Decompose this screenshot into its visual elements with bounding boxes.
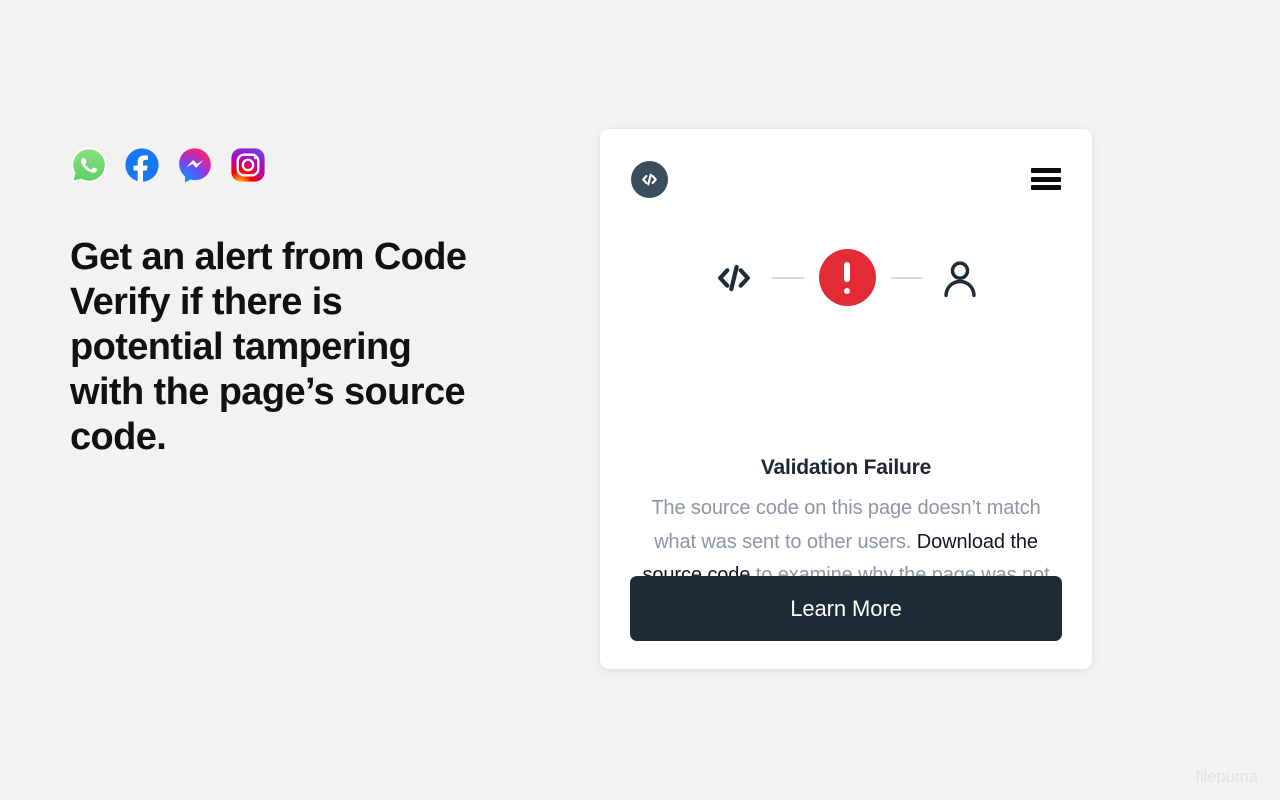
hamburger-bar	[1031, 168, 1061, 173]
hamburger-bar	[1031, 177, 1061, 182]
code-brackets-icon	[711, 255, 757, 301]
card-header	[600, 129, 1092, 229]
exclamation-glyph	[844, 262, 850, 294]
flow-connector	[772, 277, 804, 279]
card-title: Validation Failure	[636, 455, 1056, 481]
status-flow-row	[600, 249, 1092, 306]
flow-connector	[891, 277, 923, 279]
person-glyph	[938, 256, 982, 300]
code-brackets-glyph	[639, 169, 660, 190]
hamburger-bar	[1031, 185, 1061, 190]
code-brackets-glyph	[711, 255, 757, 301]
page-root: Get an alert from Code Verify if there i…	[0, 0, 1280, 800]
social-icons-row	[70, 145, 510, 185]
code-verify-card: Validation Failure The source code on th…	[600, 129, 1092, 669]
watermark: filepuma	[1195, 767, 1258, 787]
person-icon	[938, 256, 982, 300]
alert-exclamation-icon	[819, 249, 876, 306]
left-panel: Get an alert from Code Verify if there i…	[70, 145, 510, 460]
hamburger-menu-icon[interactable]	[1031, 167, 1061, 191]
code-brackets-icon[interactable]	[631, 161, 668, 198]
facebook-icon[interactable]	[123, 146, 161, 184]
instagram-icon[interactable]	[229, 146, 267, 184]
whatsapp-icon[interactable]	[70, 146, 108, 184]
messenger-icon[interactable]	[176, 146, 214, 184]
learn-more-button[interactable]: Learn More	[630, 576, 1062, 641]
page-headline: Get an alert from Code Verify if there i…	[70, 235, 470, 460]
